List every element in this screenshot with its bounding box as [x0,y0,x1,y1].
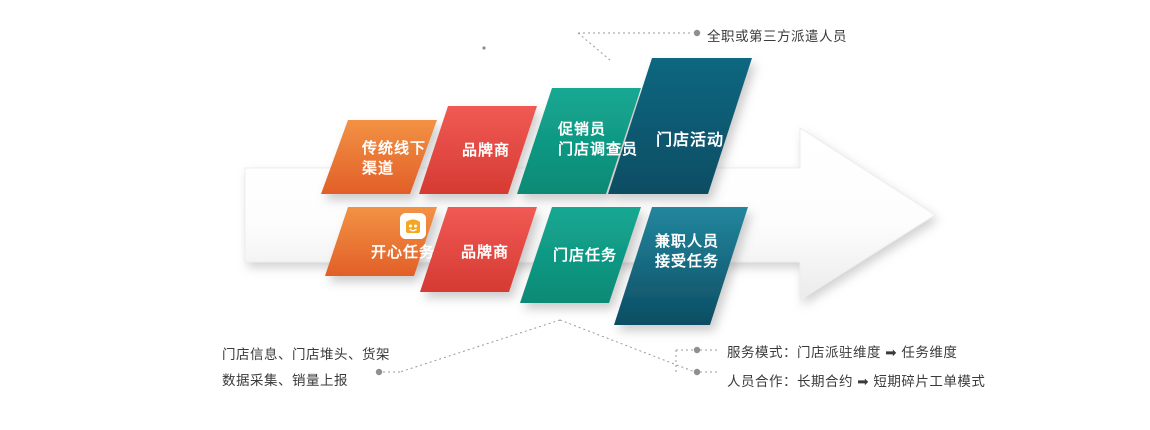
chevron-brand-owner-bottom[interactable] [420,207,537,292]
kaixin-row-shapes [0,0,1150,430]
smiley-icon [400,213,426,239]
chevron-store-task[interactable] [520,207,641,303]
annotation-staff-cooperation: 人员合作：长期合约 ➡ 短期碎片工单模式 [727,369,985,395]
annotation-service-mode: 服务模式：门店派驻维度 ➡ 任务维度 [727,340,957,366]
annotation-store-data-collection: 门店信息、门店堆头、货架 数据采集、销量上报 [222,342,390,393]
annotation-fulltime-staff: 全职或第三方派遣人员 [707,24,847,50]
diagram-canvas: 传统线下 渠道 品牌商 促销员 门店调查员 门店活动 开心任务 品牌商 门店任务… [0,0,1150,430]
